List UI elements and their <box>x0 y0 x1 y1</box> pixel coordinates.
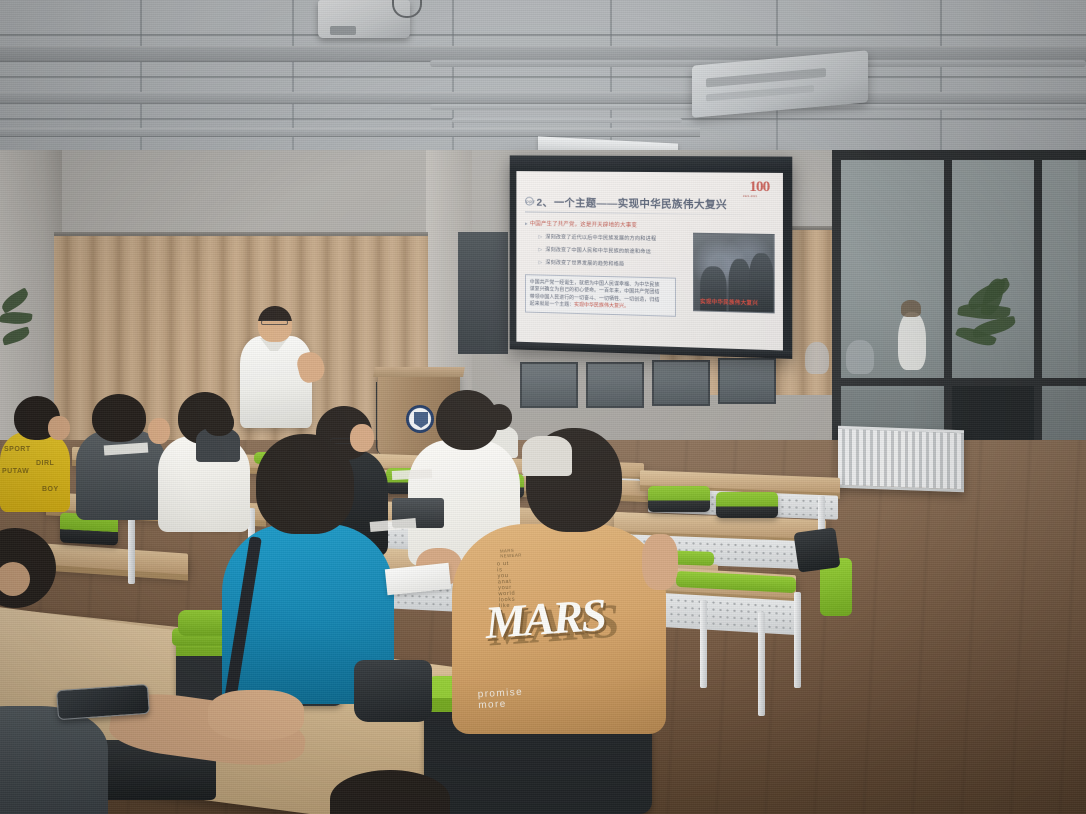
person-behind-glass <box>898 312 926 370</box>
sub-bullet-text: 深刻改变了中国人民和中华民族的前途和命运 <box>545 247 651 255</box>
person-behind-glass <box>846 340 874 374</box>
student-hand <box>350 424 374 452</box>
shirt-brand: MARS NEWEAR <box>500 547 522 558</box>
bullet-arrow-icon: ▷ <box>538 234 542 240</box>
logo-number: 100 <box>749 178 769 195</box>
shirt-graphic-text: PUTAW <box>2 468 29 475</box>
podium-cable <box>376 382 386 456</box>
slide-surface: 100 1921-2021 PPT2、一个主题——实现中华民族伟大复兴 ▸中国产… <box>516 171 783 350</box>
smartphone <box>56 684 150 720</box>
slide-lead-bullet: ▸中国产生了共产党，这是开天辟地的大事变 <box>525 219 775 231</box>
wall-window <box>652 360 710 406</box>
glass-mullion <box>944 150 952 450</box>
bullet-arrow-icon: ▷ <box>538 247 542 253</box>
shirt-graphic-text: SPORT <box>4 446 31 453</box>
student-head <box>204 408 234 436</box>
student-torso <box>522 436 572 476</box>
shirt-tagline-top: o ut is you anat your world looks like <box>497 561 516 610</box>
student-hand <box>48 416 70 440</box>
wall-panel <box>458 232 508 354</box>
sub-bullet-text: 深刻改变了世界发展的趋势和格局 <box>545 260 624 268</box>
slide-title-text: 一个主题——实现中华民族伟大复兴 <box>554 197 727 211</box>
classroom-photo: 100 1921-2021 PPT2、一个主题——实现中华民族伟大复兴 ▸中国产… <box>0 0 1086 814</box>
wall-window <box>718 358 776 404</box>
glass-mullion <box>832 150 1086 160</box>
paragraph-highlight: 实现中华民族伟大复兴。 <box>574 302 629 309</box>
shirt-tagline-bottom: promise more <box>477 687 523 711</box>
student-hand <box>148 418 170 444</box>
wall-window <box>520 362 578 408</box>
projection-screen: 100 1921-2021 PPT2、一个主题——实现中华民族伟大复兴 ▸中国产… <box>510 155 793 359</box>
bullet-arrow-icon: ▸ <box>525 221 528 227</box>
potted-plant-icon <box>956 278 1054 398</box>
slide-badge-icon: PPT <box>525 197 534 206</box>
person-behind-glass <box>805 342 829 374</box>
chair <box>648 486 710 512</box>
backpack <box>354 660 432 722</box>
title-underline <box>525 211 759 215</box>
photo-caption: 实现中华民族伟大复兴 <box>700 297 758 307</box>
cpc-centennial-logo-icon: 100 1921-2021 <box>741 176 778 199</box>
glass-mullion <box>832 150 841 450</box>
slide-title: PPT2、一个主题——实现中华民族伟大复兴 <box>525 195 775 213</box>
student-head <box>256 434 354 534</box>
podium-top <box>373 367 465 377</box>
chair <box>793 527 840 572</box>
student-head <box>436 390 498 450</box>
student-head <box>92 394 146 442</box>
lead-bullet-text: 中国产生了共产党，这是开天辟地的大事变 <box>530 221 637 229</box>
school-crest-icon <box>406 405 434 433</box>
student-hand <box>208 690 304 740</box>
wall-window <box>586 362 644 408</box>
paragraph-line-text: 起来就是一个主题： <box>530 301 574 308</box>
sub-bullet-text: 深刻改变了近代以后中华民族发展的方向和进程 <box>545 234 656 242</box>
radiator-icon <box>838 426 964 492</box>
presenter-torso <box>240 336 312 428</box>
glasses-icon <box>261 320 288 325</box>
slide-paragraph-box: 中国共产党一经诞生，就把为中国人民谋幸福、为中华民族 谋复兴确立为自己的初心使命… <box>525 274 676 317</box>
shirt-graphic-text: BOY <box>42 486 59 493</box>
potted-plant-icon <box>0 290 34 366</box>
slide-photo: 实现中华民族伟大复兴 <box>693 233 775 314</box>
student-torso <box>0 706 108 814</box>
slide-title-number: 2、 <box>537 197 554 209</box>
shirt-graphic-text: DIRL <box>36 460 54 467</box>
person-head <box>901 300 921 317</box>
chair <box>716 492 778 518</box>
bullet-arrow-icon: ▷ <box>538 260 542 266</box>
student-neck <box>642 534 678 590</box>
presentation-slide: 100 1921-2021 PPT2、一个主题——实现中华民族伟大复兴 ▸中国产… <box>516 171 783 350</box>
